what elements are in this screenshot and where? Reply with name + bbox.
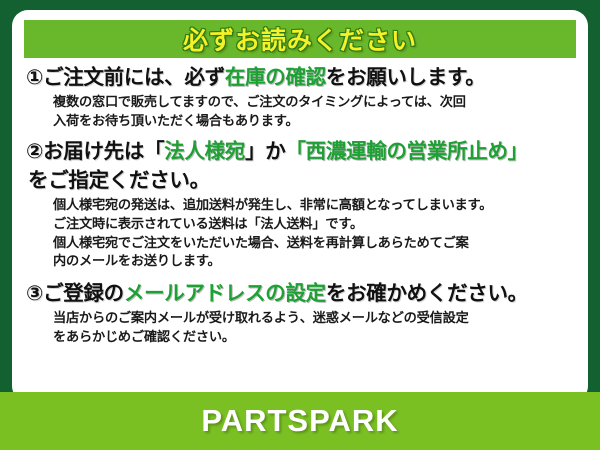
notice-item-1: ①ご注文前には、必ず在庫の確認をお願いします。 複数の窓口で販売してますので、ご… bbox=[26, 64, 574, 130]
notice-title: 必ずお読みください bbox=[183, 21, 417, 57]
notice-item-2-conjunction: か bbox=[265, 140, 285, 163]
notice-item-3: ③ご登録のメールアドレスの設定をお確かめください。 当店からのご案内メールが受け… bbox=[26, 280, 574, 346]
notice-frame: 必ずお読みください ①ご注文前には、必ず在庫の確認をお願いします。 複数の窓口で… bbox=[0, 0, 600, 450]
notice-item-3-marker: ③ bbox=[26, 282, 43, 305]
notice-item-3-body: 当店からのご案内メールが受け取れるよう、迷惑メールなどの受信設定 をあらかじめご… bbox=[26, 309, 574, 346]
notice-item-2-body-line-4: 内のメールをお送りします。 bbox=[53, 252, 574, 271]
notice-item-2-heading-part-1: お届け先は bbox=[43, 140, 144, 163]
notice-item-3-heading-part-3: をお確かめください。 bbox=[326, 282, 528, 305]
notice-item-1-heading: ①ご注文前には、必ず在庫の確認をお願いします。 bbox=[26, 64, 574, 92]
notice-item-2-marker: ② bbox=[26, 140, 43, 163]
notice-item-2-heading-highlight-2: 「西濃運輸の営業所止め」 bbox=[285, 140, 527, 163]
notice-item-2-body: 個人様宅宛の発送は、追加送料が発生し、非常に高額となってしまいます。 ご注文時に… bbox=[26, 196, 574, 271]
footer-brand-bar: PARTSPARK bbox=[0, 392, 600, 450]
notice-item-2-bracket-open: 「 bbox=[144, 140, 164, 163]
notice-item-3-body-line-2: をあらかじめご確認ください。 bbox=[53, 328, 574, 347]
notice-item-2-body-line-1: 個人様宅宛の発送は、追加送料が発生し、非常に高額となってしまいます。 bbox=[53, 196, 574, 215]
notice-item-1-marker: ① bbox=[26, 66, 43, 89]
notice-item-2-bracket-close: 」 bbox=[245, 140, 265, 163]
brand-name: PARTSPARK bbox=[201, 403, 398, 439]
notice-item-1-body-line-2: 入荷をお待ち頂いただく場合もあります。 bbox=[53, 112, 574, 131]
notice-item-1-heading-highlight: 在庫の確認 bbox=[225, 66, 326, 89]
notice-items: ①ご注文前には、必ず在庫の確認をお願いします。 複数の窓口で販売してますので、ご… bbox=[24, 64, 576, 346]
notice-item-3-heading: ③ご登録のメールアドレスの設定をお確かめください。 bbox=[26, 280, 574, 308]
notice-item-2-heading-line-2: をご指定ください。 bbox=[26, 167, 574, 195]
notice-item-3-heading-part-1: ご登録の bbox=[43, 282, 124, 305]
notice-panel: 必ずお読みください ①ご注文前には、必ず在庫の確認をお願いします。 複数の窓口で… bbox=[12, 10, 588, 402]
notice-item-2: ②お届け先は「法人様宛」か「西濃運輸の営業所止め」 をご指定ください。 個人様宅… bbox=[26, 138, 574, 271]
notice-item-1-heading-part-3: をお願いします。 bbox=[326, 66, 486, 89]
notice-item-3-heading-highlight: メールアドレスの設定 bbox=[124, 282, 326, 305]
notice-item-2-body-line-3: 個人様宅宛でご注文をいただいた場合、送料を再計算しあらためてご案 bbox=[53, 234, 574, 253]
notice-item-1-body-line-1: 複数の窓口で販売してますので、ご注文のタイミングによっては、次回 bbox=[53, 93, 574, 112]
notice-item-2-heading-part-last: をご指定ください。 bbox=[28, 169, 210, 192]
notice-item-3-body-line-1: 当店からのご案内メールが受け取れるよう、迷惑メールなどの受信設定 bbox=[53, 309, 574, 328]
notice-item-2-heading-highlight-1: 法人様宛 bbox=[164, 140, 245, 163]
notice-title-bar: 必ずお読みください bbox=[24, 20, 576, 58]
notice-item-2-body-line-2: ご注文時に表示されている送料は「法人送料」です。 bbox=[53, 215, 574, 234]
notice-item-2-heading-line-1: ②お届け先は「法人様宛」か「西濃運輸の営業所止め」 bbox=[26, 138, 574, 166]
notice-item-1-heading-part-1: ご注文前には、必ず bbox=[43, 66, 225, 89]
notice-item-1-body: 複数の窓口で販売してますので、ご注文のタイミングによっては、次回 入荷をお待ち頂… bbox=[26, 93, 574, 130]
